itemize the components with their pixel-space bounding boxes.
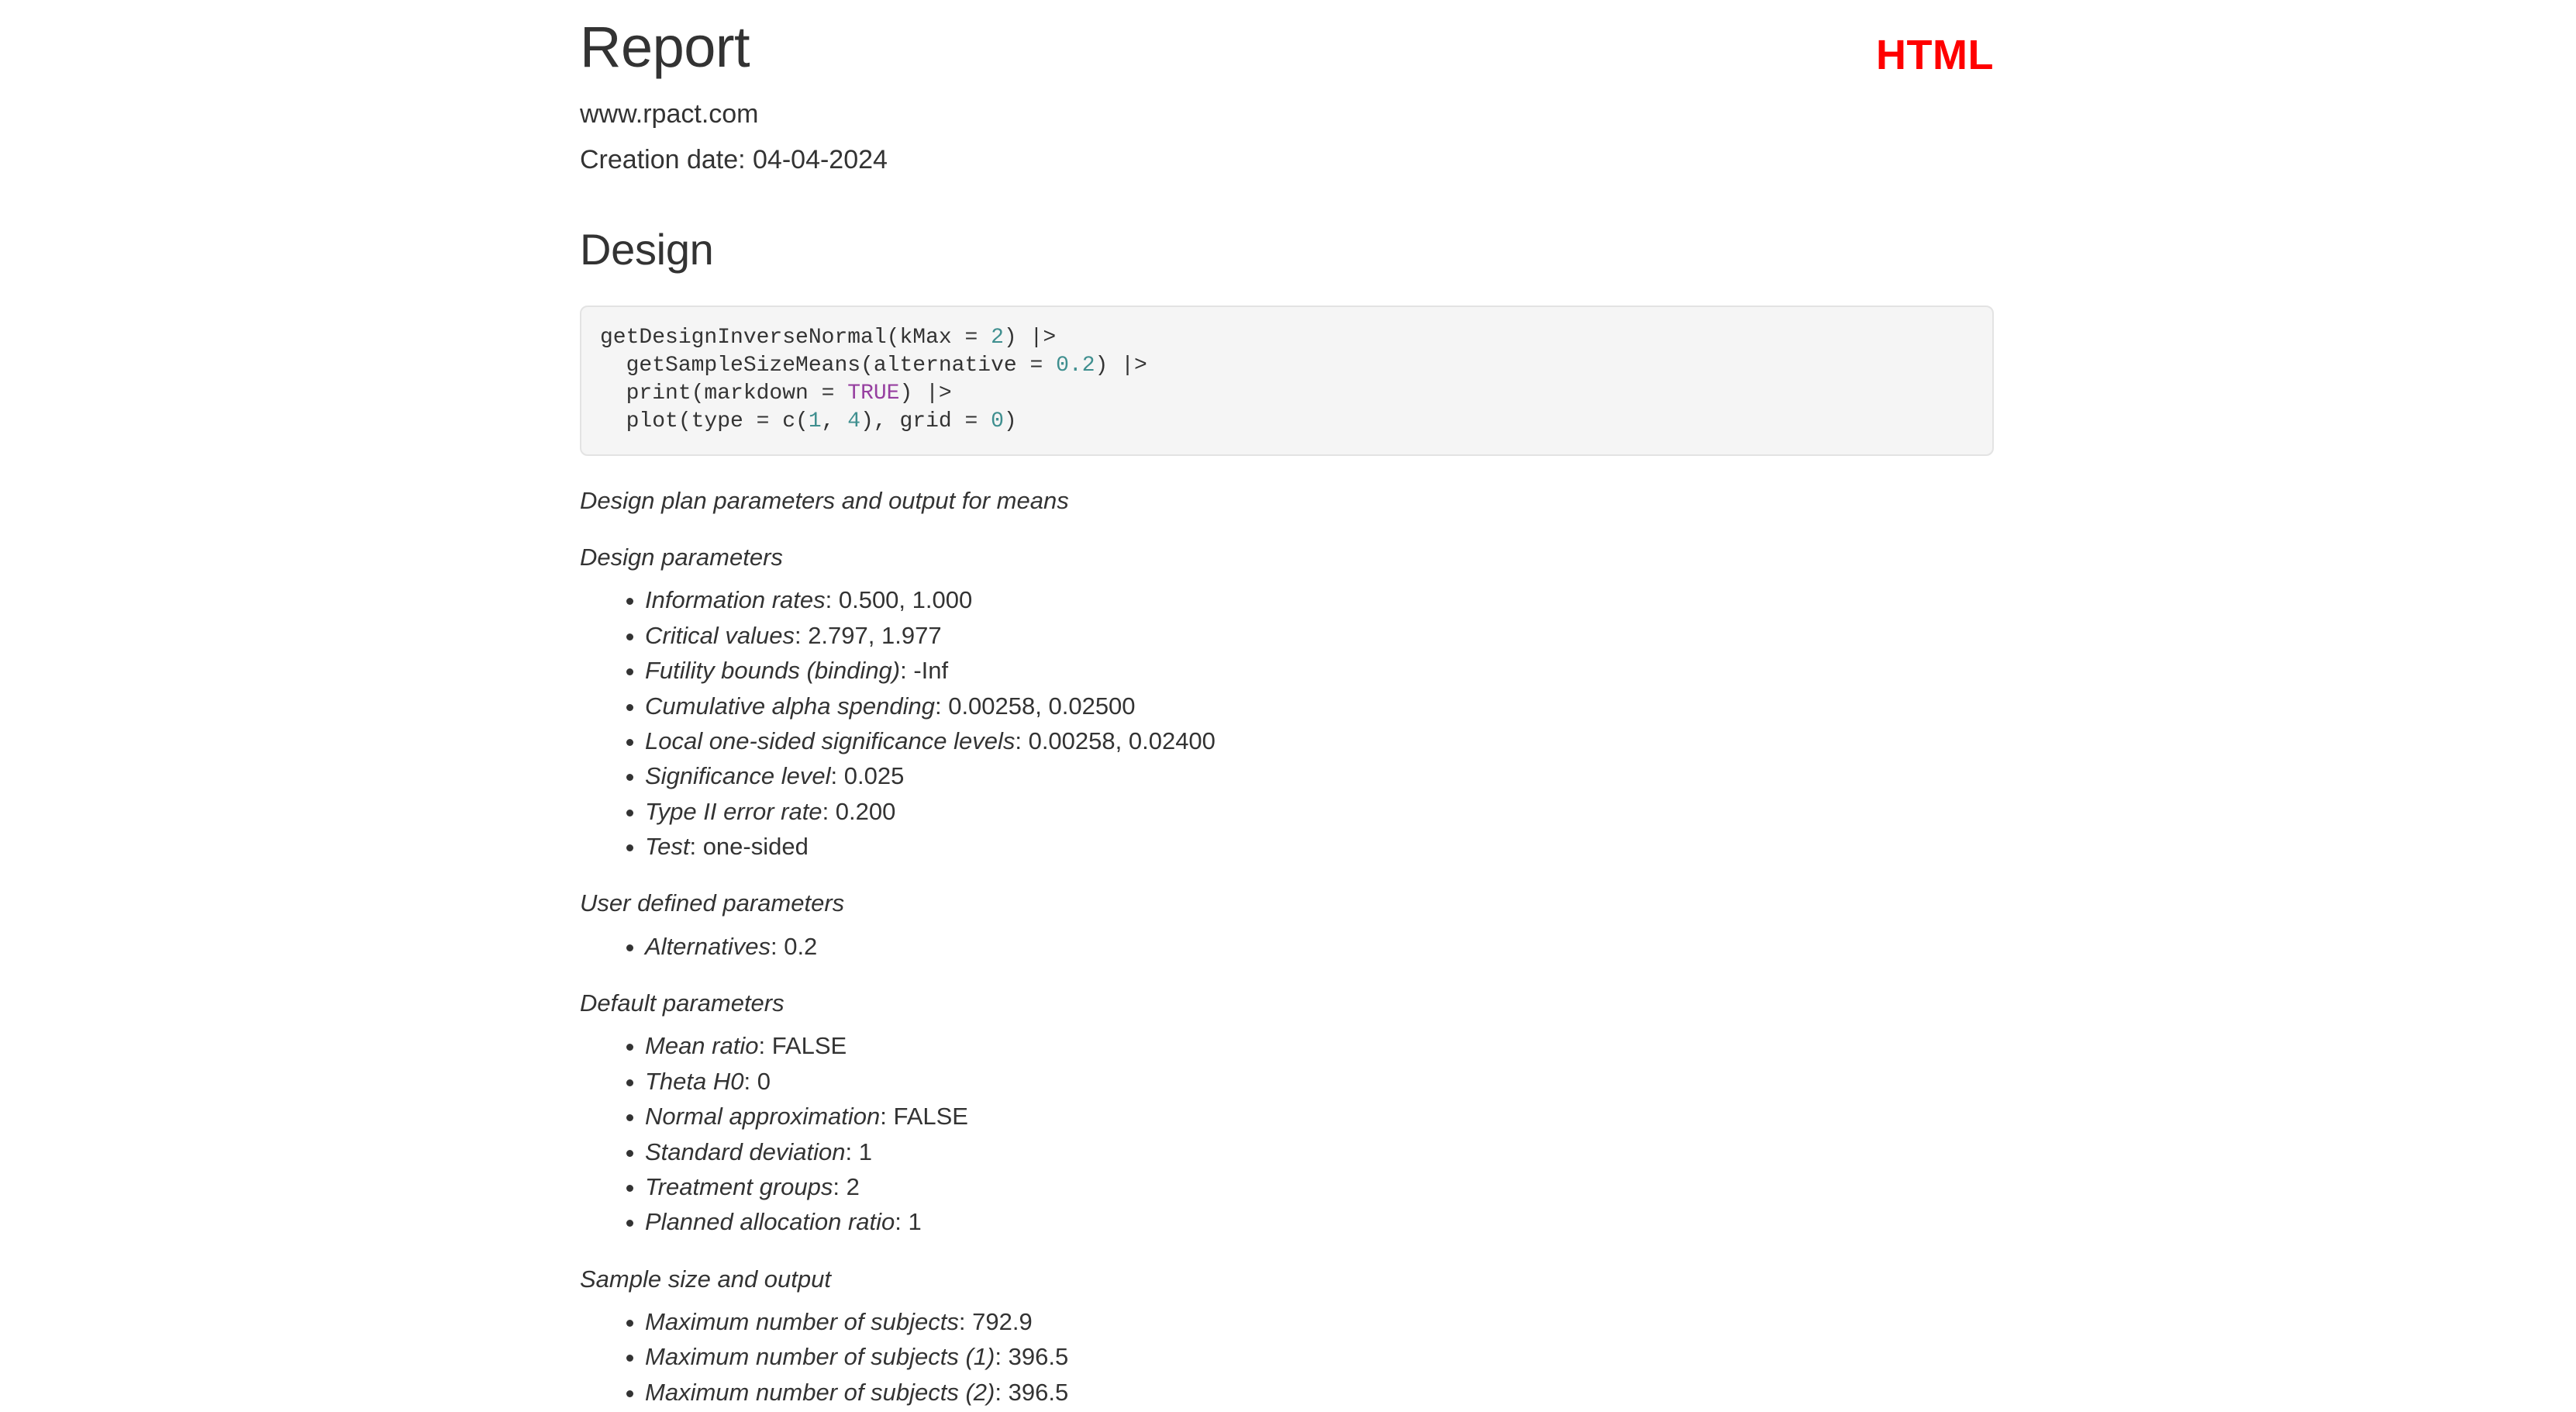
parameter-label: Significance level [645, 762, 831, 789]
parameter-label: Theta H0 [645, 1068, 744, 1095]
code-token-number: 0 [991, 409, 1004, 433]
list-item: Normal approximation: FALSE [626, 1101, 1994, 1131]
code-token-number: 1 [809, 409, 822, 433]
list-item: Theta H0: 0 [626, 1066, 1994, 1096]
parameter-label: Maximum number of subjects (2) [645, 1379, 995, 1406]
parameter-label: Futility bounds (binding) [645, 657, 900, 684]
list-item: Local one-sided significance levels: 0.0… [626, 726, 1994, 756]
parameter-label: Information rates [645, 586, 826, 613]
code-token-number: 4 [847, 409, 860, 433]
list-item: Test: one-sided [626, 831, 1994, 861]
code-token-number: 2 [991, 326, 1004, 350]
format-badge: HTML [1876, 34, 1994, 76]
output-parameter-list: Information rates: 0.500, 1.000Critical … [580, 585, 1994, 861]
parameter-label: Critical values [645, 622, 795, 649]
parameter-value: 0 [757, 1068, 771, 1095]
parameter-value: 396.5 [1009, 1343, 1069, 1370]
parameter-label: Test [645, 833, 689, 860]
parameter-value: one-sided [703, 833, 809, 860]
parameter-value: 1 [909, 1208, 922, 1235]
list-item: Cumulative alpha spending: 0.00258, 0.02… [626, 691, 1994, 721]
creation-date-line: Creation date: 04-04-2024 [580, 141, 1994, 179]
output-group-heading: Sample size and output [580, 1242, 1994, 1296]
code-snippet: getDesignInverseNormal(kMax = 2) |> getS… [600, 324, 1974, 435]
output-parameter-list: Mean ratio: FALSETheta H0: 0Normal appro… [580, 1031, 1994, 1237]
parameter-value: 0.00258, 0.02400 [1029, 727, 1216, 754]
list-item: Treatment groups: 2 [626, 1172, 1994, 1202]
output-parameter-list: Maximum number of subjects: 792.9Maximum… [580, 1307, 1994, 1407]
parameter-value: 0.025 [844, 762, 905, 789]
output-group-heading: Default parameters [580, 966, 1994, 1020]
parameter-value: 2 [847, 1173, 860, 1200]
parameter-label: Type II error rate [645, 798, 822, 825]
code-token-constant: TRUE [847, 381, 899, 406]
parameter-value: -Inf [913, 657, 948, 684]
parameter-label: Maximum number of subjects [645, 1308, 959, 1335]
parameter-value: 0.2 [784, 933, 817, 960]
parameter-label: Local one-sided significance levels [645, 727, 1015, 754]
parameter-value: 2.797, 1.977 [808, 622, 941, 649]
list-item: Mean ratio: FALSE [626, 1031, 1994, 1061]
list-item: Alternatives: 0.2 [626, 931, 1994, 961]
parameter-value: 1 [859, 1138, 872, 1165]
list-item: Maximum number of subjects: 792.9 [626, 1307, 1994, 1337]
document-meta: www.rpact.com Creation date: 04-04-2024 [580, 95, 1994, 179]
list-item: Information rates: 0.500, 1.000 [626, 585, 1994, 615]
output-block: Design plan parameters and output for me… [580, 484, 1994, 1407]
parameter-value: 0.200 [836, 798, 896, 825]
parameter-value: 0.00258, 0.02500 [948, 692, 1135, 720]
parameter-label: Standard deviation [645, 1138, 846, 1165]
parameter-label: Alternatives [645, 933, 771, 960]
code-block: getDesignInverseNormal(kMax = 2) |> getS… [580, 306, 1994, 455]
parameter-value: FALSE [893, 1103, 968, 1130]
output-parameter-list: Alternatives: 0.2 [580, 931, 1994, 961]
report-content-column: HTML Report www.rpact.com Creation date:… [580, 0, 1994, 1412]
list-item: Standard deviation: 1 [626, 1137, 1994, 1167]
list-item: Maximum number of subjects (1): 396.5 [626, 1341, 1994, 1372]
list-item: Futility bounds (binding): -Inf [626, 655, 1994, 685]
list-item: Significance level: 0.025 [626, 761, 1994, 791]
output-intro: Design plan parameters and output for me… [580, 484, 1994, 517]
parameter-label: Planned allocation ratio [645, 1208, 895, 1235]
output-group-heading: User defined parameters [580, 866, 1994, 920]
code-token-number: 0.2 [1056, 354, 1095, 378]
parameter-label: Cumulative alpha spending [645, 692, 935, 720]
list-item: Maximum number of subjects (2): 396.5 [626, 1377, 1994, 1407]
parameter-value: 792.9 [972, 1308, 1033, 1335]
parameter-label: Treatment groups [645, 1173, 833, 1200]
report-page: HTML Report www.rpact.com Creation date:… [0, 0, 2576, 1277]
parameter-label: Mean ratio [645, 1032, 758, 1059]
output-group-heading: Design parameters [580, 520, 1994, 574]
parameter-label: Maximum number of subjects (1) [645, 1343, 995, 1370]
list-item: Critical values: 2.797, 1.977 [626, 620, 1994, 651]
website-line: www.rpact.com [580, 95, 1994, 133]
list-item: Type II error rate: 0.200 [626, 796, 1994, 827]
page-title: Report [580, 0, 1994, 78]
list-item: Planned allocation ratio: 1 [626, 1207, 1994, 1237]
parameter-value: 396.5 [1009, 1379, 1069, 1406]
parameter-value: FALSE [772, 1032, 847, 1059]
section-heading-design: Design [580, 186, 1994, 274]
parameter-label: Normal approximation [645, 1103, 880, 1130]
parameter-value: 0.500, 1.000 [839, 586, 972, 613]
